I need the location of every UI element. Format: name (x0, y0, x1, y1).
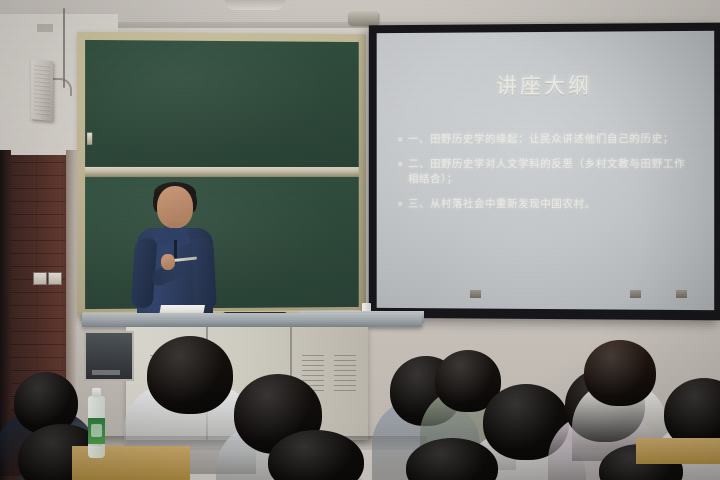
screen-bracket (630, 290, 641, 298)
screen-roller (348, 12, 378, 25)
bullet-square-icon (398, 162, 402, 166)
green-chalkboard (77, 32, 367, 317)
audience-member-11 (392, 438, 512, 480)
screen-bracket (470, 290, 481, 298)
bullet-square-icon (398, 137, 402, 141)
list-item: 一、田野历史学的缘起：让民众讲述他们自己的历史； (398, 132, 696, 147)
presenter-hand (161, 254, 175, 270)
bottle-label (88, 418, 105, 444)
chalkboard-rail (85, 167, 359, 177)
chalkboard-clip (87, 133, 92, 145)
wall-speaker (31, 59, 53, 121)
presenter (131, 182, 217, 322)
chalkboard-surface (85, 40, 359, 309)
chalkboard-panel-lower (85, 177, 359, 309)
light-switch[interactable] (48, 272, 62, 285)
bullet-square-icon (398, 202, 402, 206)
ceiling-fixture (225, 0, 285, 10)
chalkboard-panel-upper (85, 40, 359, 169)
screen-bracket (676, 290, 687, 298)
slide-bullet-text: 二、田野历史学对人文学科的反思（乡村文教与田野工作相结合）； (408, 157, 696, 187)
student-desk (636, 438, 720, 464)
slide-surface: 讲座大纲 一、田野历史学的缘起：让民众讲述他们自己的历史； 二、田野历史学对人文… (377, 31, 715, 310)
slide-bullet-list: 一、田野历史学的缘起：让民众讲述他们自己的历史； 二、田野历史学对人文学科的反思… (398, 132, 696, 223)
projection-screen: 讲座大纲 一、田野历史学的缘起：让民众讲述他们自己的历史； 二、田野历史学对人文… (369, 23, 720, 321)
list-item: 三、从村落社会中重新发现中国农村。 (398, 197, 696, 213)
bottle-cap (92, 388, 101, 397)
desk-surface (82, 313, 422, 327)
audience-member-5 (252, 430, 380, 480)
audience-head (406, 438, 498, 480)
slide-title: 讲座大纲 (377, 69, 715, 100)
water-bottle (88, 396, 105, 458)
slide-bullet-text: 一、田野历史学的缘起：让民众讲述他们自己的历史； (408, 132, 674, 147)
light-switch[interactable] (33, 272, 47, 285)
presenter-arm (191, 237, 217, 310)
audience-head (584, 340, 656, 406)
wall-vent (37, 24, 53, 32)
list-item: 二、田野历史学对人文学科的反思（乡村文教与田野工作相结合）； (398, 157, 696, 187)
lecture-hall-scene: 讲座大纲 一、田野历史学的缘起：让民众讲述他们自己的历史； 二、田野历史学对人文… (0, 0, 720, 480)
slide-bullet-text: 三、从村落社会中重新发现中国农村。 (408, 197, 596, 212)
audience-head (268, 430, 364, 480)
ceiling-wire (63, 8, 65, 88)
